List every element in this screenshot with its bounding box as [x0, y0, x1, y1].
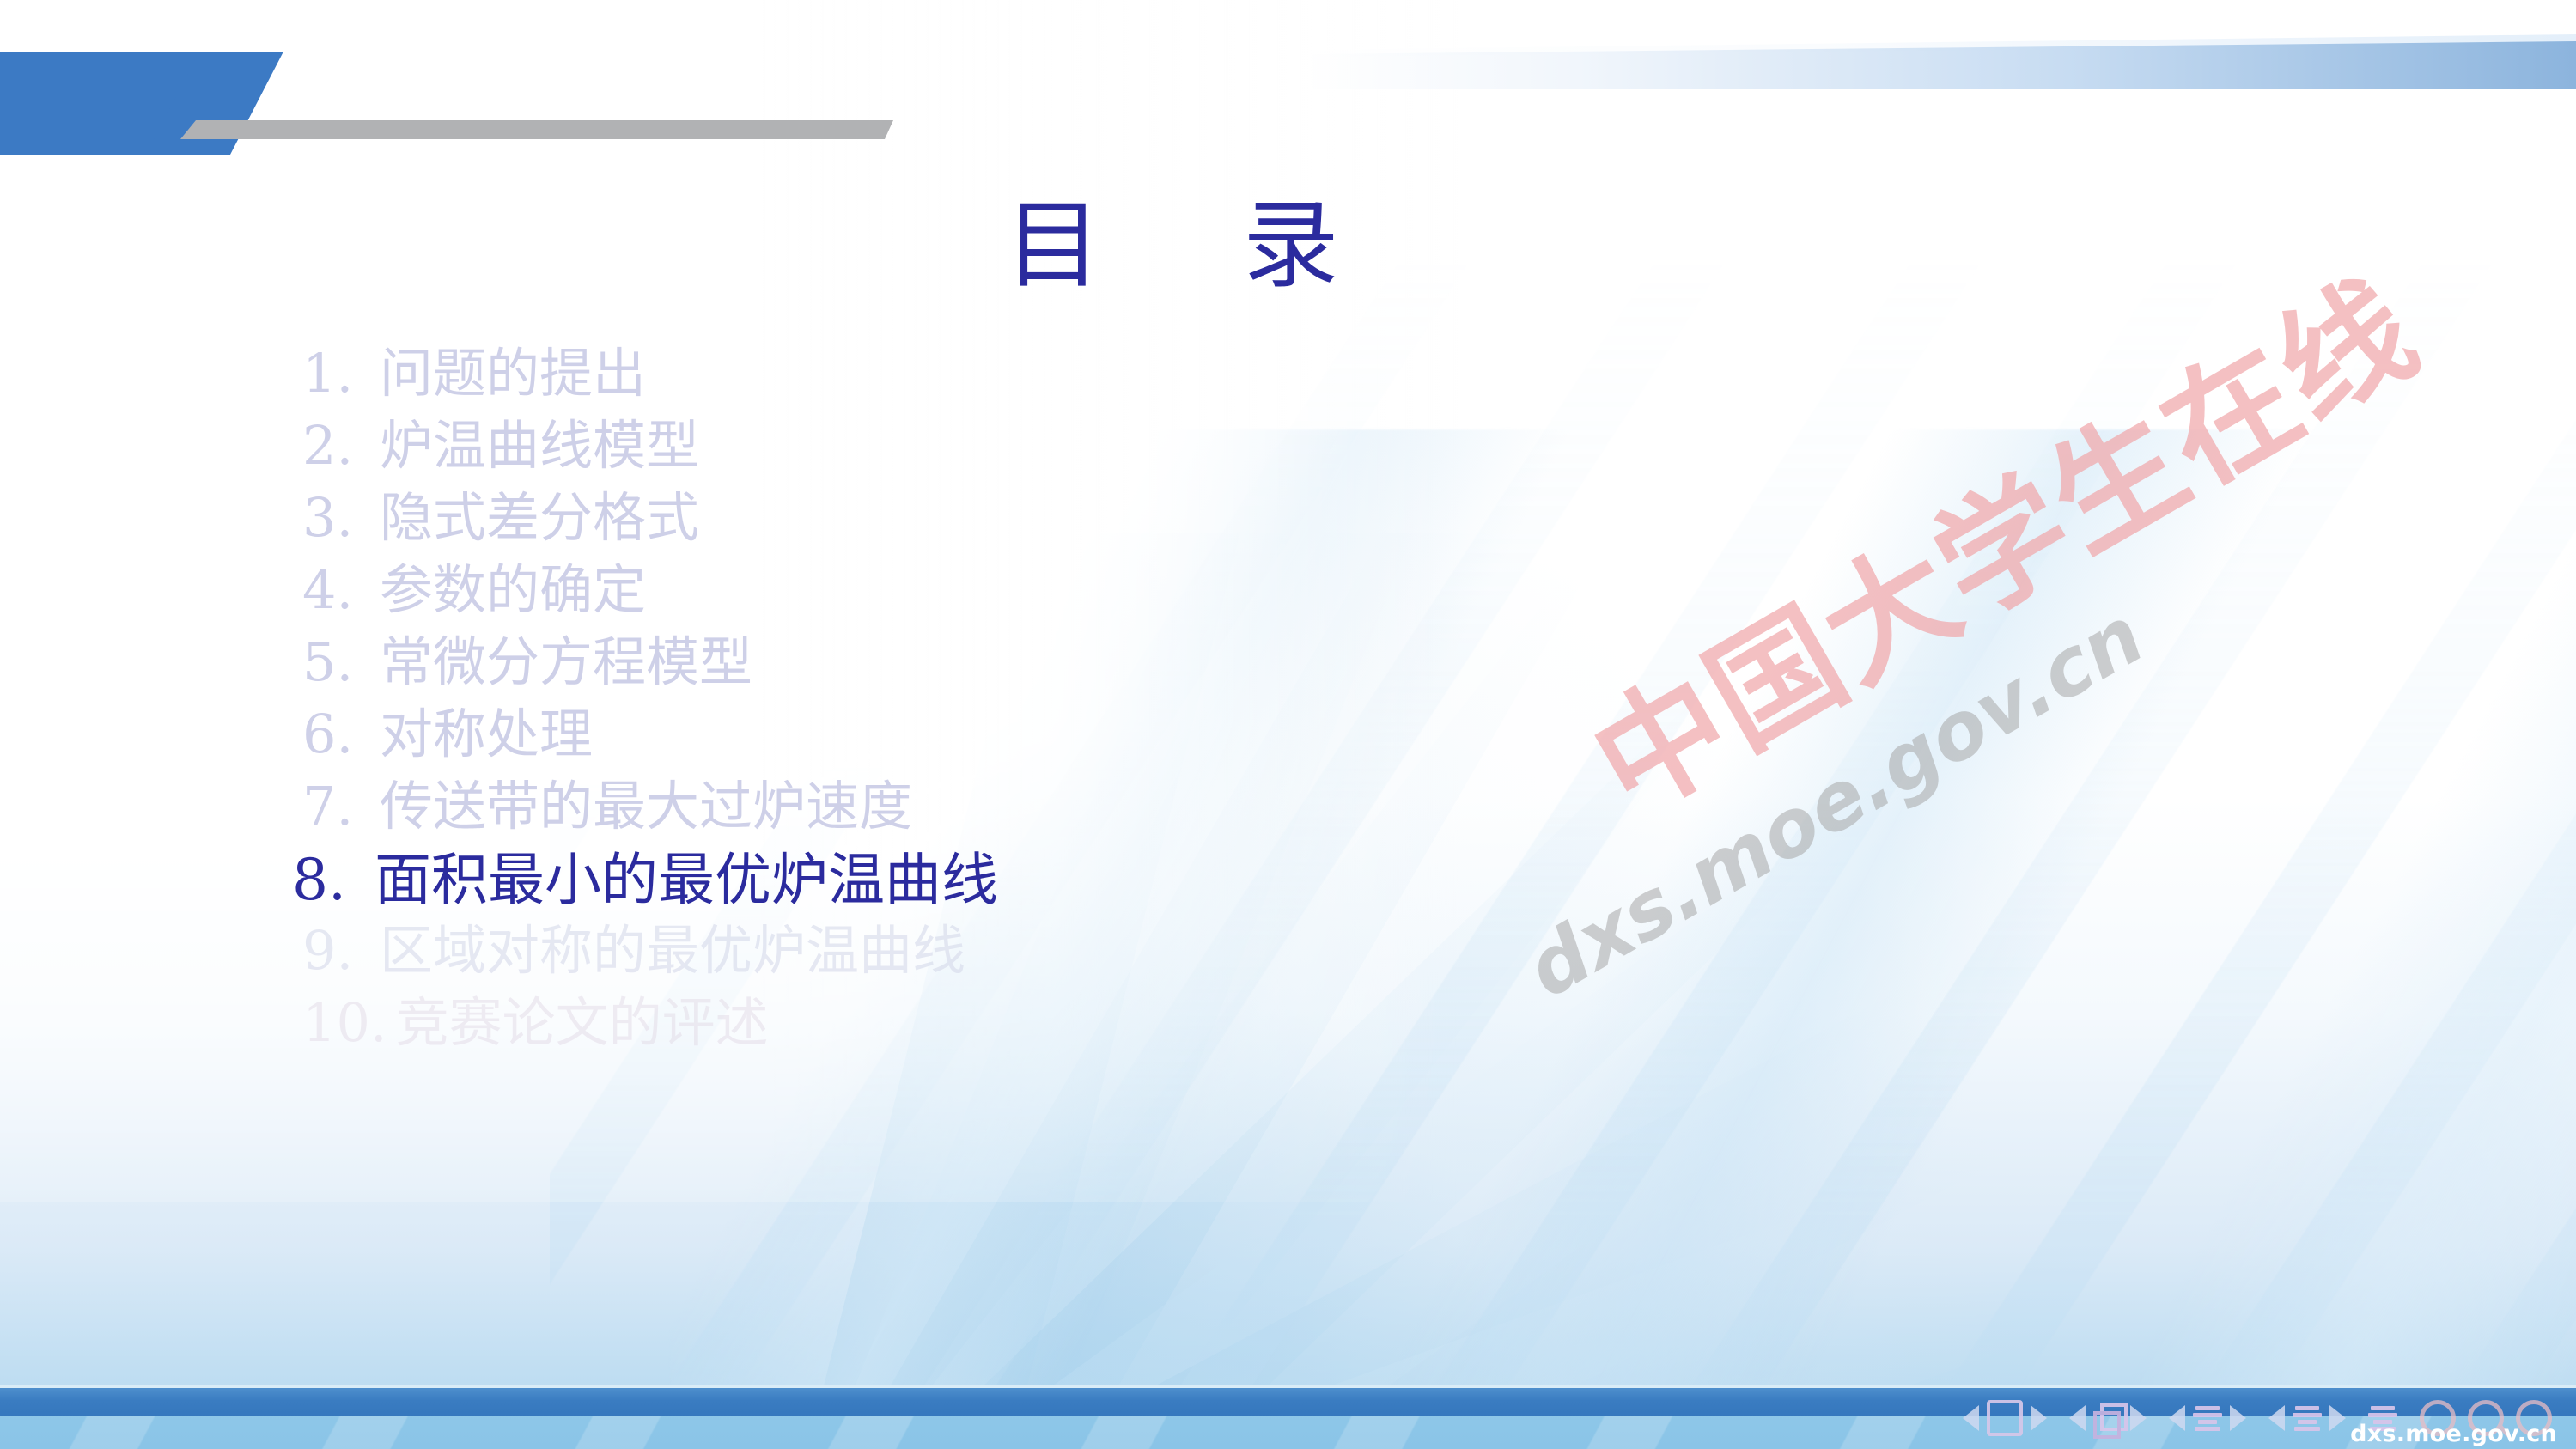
nav-group-notes: [2268, 1403, 2346, 1433]
footer-url-label: dxs.moe.gov.cn: [2350, 1421, 2557, 1447]
prev-arrow-icon[interactable]: [2169, 1405, 2185, 1431]
next-arrow-icon[interactable]: [2130, 1405, 2147, 1431]
toc-item-6[interactable]: 6. 对称处理: [302, 708, 1591, 780]
toc-item-7[interactable]: 7. 传送带的最大过炉速度: [302, 780, 1591, 852]
nav-group-slides: [2069, 1403, 2147, 1433]
toc-item-number: 1.: [302, 347, 371, 400]
toc-item-label: 常微分方程模型: [380, 636, 752, 689]
toc-item-label: 参数的确定: [380, 563, 646, 617]
toc-item-label: 竞赛论文的评述: [396, 996, 769, 1050]
prev-arrow-icon[interactable]: [2069, 1405, 2086, 1431]
toc-item-label: 面积最小的最优炉温曲线: [375, 852, 998, 909]
toc-item-2[interactable]: 2. 炉温曲线模型: [302, 419, 1591, 491]
page-title: 目 录: [1005, 198, 1641, 294]
next-arrow-icon[interactable]: [2031, 1405, 2047, 1431]
toc-item-3[interactable]: 3. 隐式差分格式: [302, 491, 1591, 563]
toc-item-5[interactable]: 5. 常微分方程模型: [302, 636, 1591, 708]
toc-item-number: 8.: [292, 852, 366, 909]
toc-item-number: 6.: [302, 708, 371, 761]
notes-lines-icon[interactable]: [2293, 1403, 2322, 1433]
toc-item-label: 对称处理: [380, 708, 593, 761]
next-arrow-icon[interactable]: [2329, 1405, 2346, 1431]
toc-item-number: 9.: [302, 924, 371, 977]
toc-item-number: 5.: [302, 636, 371, 689]
toc-item-label: 隐式差分格式: [380, 491, 699, 545]
toc-item-number: 7.: [302, 780, 371, 833]
prev-arrow-icon[interactable]: [1963, 1405, 1979, 1431]
toc-item-label: 区域对称的最优炉温曲线: [380, 924, 965, 977]
toc-item-10[interactable]: 10. 竞赛论文的评述: [302, 996, 1591, 1068]
prev-arrow-icon[interactable]: [2268, 1405, 2285, 1431]
header-gray-rule: [180, 120, 893, 139]
nav-group-page: [1963, 1400, 2047, 1436]
toc-item-1[interactable]: 1. 问题的提出: [302, 347, 1591, 419]
toc-item-9[interactable]: 9. 区域对称的最优炉温曲线: [302, 924, 1591, 996]
toc-item-label: 传送带的最大过炉速度: [380, 780, 912, 833]
toc-item-label: 炉温曲线模型: [380, 419, 699, 472]
toc-item-number: 4.: [302, 563, 371, 617]
presentation-slide: 目 录 1. 问题的提出 2. 炉温曲线模型 3. 隐式差分格式 4. 参数的确…: [0, 0, 2576, 1449]
toc-item-8-selected[interactable]: 8. 面积最小的最优炉温曲线: [292, 852, 1591, 924]
table-of-contents: 1. 问题的提出 2. 炉温曲线模型 3. 隐式差分格式 4. 参数的确定 5.…: [302, 347, 1591, 1068]
toc-item-4[interactable]: 4. 参数的确定: [302, 563, 1591, 636]
toc-item-number: 3.: [302, 491, 371, 545]
toc-item-number: 10.: [302, 996, 387, 1050]
toc-item-label: 问题的提出: [380, 347, 646, 400]
slide-stack-icon[interactable]: [2093, 1403, 2122, 1433]
next-arrow-icon[interactable]: [2230, 1405, 2246, 1431]
toc-item-number: 2.: [302, 419, 371, 472]
page-icon[interactable]: [1987, 1400, 2023, 1436]
outline-lines-icon[interactable]: [2193, 1403, 2222, 1433]
nav-group-outline: [2169, 1403, 2246, 1433]
